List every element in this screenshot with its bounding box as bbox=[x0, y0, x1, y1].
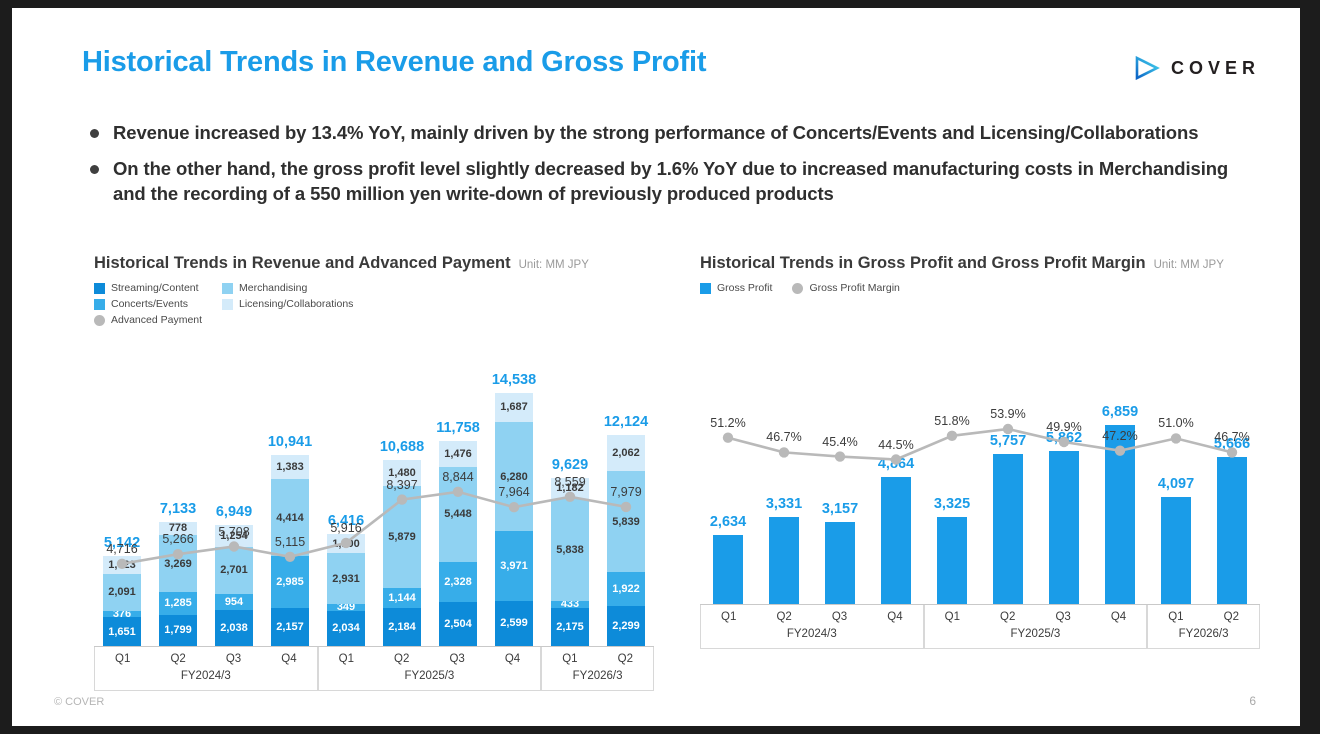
cover-logo: COVER bbox=[1134, 56, 1260, 80]
axis-group: Q1Q2Q3Q4FY2024/3 bbox=[700, 605, 924, 649]
axis-quarter-label: Q2 bbox=[756, 605, 811, 628]
axis-group: Q1Q2FY2026/3 bbox=[1147, 605, 1260, 649]
revenue-legend-item[interactable]: Streaming/Content bbox=[94, 282, 212, 294]
axis-quarter-label: Q1 bbox=[1148, 605, 1203, 628]
line-point-label: 5,708 bbox=[218, 525, 249, 539]
line-point-label: 7,964 bbox=[498, 485, 529, 499]
advanced-payment-labels: 4,7165,2665,7085,1155,9168,3978,8447,964… bbox=[94, 334, 654, 646]
axis-quarter-label: Q1 bbox=[701, 605, 756, 628]
legend-label: Gross Profit bbox=[717, 282, 772, 294]
line-point-label: 46.7% bbox=[766, 430, 801, 444]
line-point-label: 51.2% bbox=[710, 416, 745, 430]
gross-profit-chart-title: Historical Trends in Gross Profit and Gr… bbox=[700, 254, 1146, 273]
axis-quarter-label: Q3 bbox=[429, 647, 484, 670]
legend-label: Streaming/Content bbox=[111, 282, 199, 294]
line-point-label: 44.5% bbox=[878, 438, 913, 452]
revenue-chart-title: Historical Trends in Revenue and Advance… bbox=[94, 254, 511, 273]
axis-fiscal-year-label: FY2025/3 bbox=[319, 670, 541, 687]
axis-quarter-label: Q1 bbox=[319, 647, 374, 670]
axis-quarter-label: Q2 bbox=[374, 647, 429, 670]
gross-profit-chart-header: Historical Trends in Gross Profit and Gr… bbox=[700, 254, 1260, 273]
line-point-label: 51.8% bbox=[934, 414, 969, 428]
legend-swatch-icon bbox=[222, 299, 233, 310]
legend-swatch-icon bbox=[700, 283, 711, 294]
line-point-label: 7,979 bbox=[610, 485, 641, 499]
line-point-label: 8,844 bbox=[442, 470, 473, 484]
axis-quarter-label: Q2 bbox=[980, 605, 1035, 628]
list-item: Revenue increased by 13.4% YoY, mainly d… bbox=[90, 120, 1230, 145]
axis-quarter-label: Q1 bbox=[925, 605, 980, 628]
revenue-chart-panel: Historical Trends in Revenue and Advance… bbox=[94, 254, 654, 691]
revenue-x-axis: Q1Q2Q3Q4FY2024/3Q1Q2Q3Q4FY2025/3Q1Q2FY20… bbox=[94, 646, 654, 691]
line-point-label: 51.0% bbox=[1158, 416, 1193, 430]
line-point-label: 53.9% bbox=[990, 407, 1025, 421]
axis-quarter-label: Q2 bbox=[150, 647, 205, 670]
line-point-label: 47.2% bbox=[1102, 429, 1137, 443]
legend-label: Licensing/Collaborations bbox=[239, 298, 353, 310]
axis-group: Q1Q2Q3Q4FY2025/3 bbox=[924, 605, 1148, 649]
legend-label: Gross Profit Margin bbox=[809, 282, 899, 294]
bullet-dot-icon bbox=[90, 129, 99, 138]
legend-swatch-icon bbox=[94, 299, 105, 310]
gross-profit-chart-legend: Gross ProfitGross Profit Margin bbox=[700, 282, 1260, 294]
axis-quarter-label: Q3 bbox=[1035, 605, 1090, 628]
revenue-chart-unit: Unit: MM JPY bbox=[519, 259, 589, 271]
revenue-chart-legend: Streaming/ContentMerchandisingConcerts/E… bbox=[94, 282, 394, 326]
axis-quarter-label: Q4 bbox=[867, 605, 922, 628]
axis-quarter-label: Q2 bbox=[598, 647, 653, 670]
axis-group: Q1Q2Q3Q4FY2025/3 bbox=[318, 647, 542, 691]
line-point-label: 5,266 bbox=[162, 532, 193, 546]
bullet-text: On the other hand, the gross profit leve… bbox=[113, 156, 1230, 206]
gross-profit-x-axis: Q1Q2Q3Q4FY2024/3Q1Q2Q3Q4FY2025/3Q1Q2FY20… bbox=[700, 604, 1260, 649]
line-point-label: 5,916 bbox=[330, 521, 361, 535]
gross-profit-legend-item[interactable]: Gross Profit bbox=[700, 282, 772, 294]
axis-group: Q1Q2FY2026/3 bbox=[541, 647, 654, 691]
axis-quarter-label: Q3 bbox=[812, 605, 867, 628]
axis-fiscal-year-label: FY2024/3 bbox=[701, 628, 923, 645]
gross-profit-chart-unit: Unit: MM JPY bbox=[1154, 259, 1224, 271]
axis-quarter-label: Q1 bbox=[95, 647, 150, 670]
bullet-text: Revenue increased by 13.4% YoY, mainly d… bbox=[113, 120, 1198, 145]
axis-quarter-label: Q2 bbox=[1204, 605, 1259, 628]
line-point-label: 45.4% bbox=[822, 435, 857, 449]
axis-fiscal-year-label: FY2026/3 bbox=[542, 670, 653, 687]
axis-quarter-label: Q4 bbox=[1091, 605, 1146, 628]
gross-profit-margin-labels: 51.2%46.7%45.4%44.5%51.8%53.9%49.9%47.2%… bbox=[700, 302, 1260, 604]
slide-canvas: Historical Trends in Revenue and Gross P… bbox=[12, 8, 1300, 726]
legend-swatch-icon bbox=[222, 283, 233, 294]
axis-fiscal-year-label: FY2025/3 bbox=[925, 628, 1147, 645]
page-title: Historical Trends in Revenue and Gross P… bbox=[82, 46, 706, 79]
play-triangle-icon bbox=[1134, 56, 1160, 80]
revenue-legend-item[interactable]: Advanced Payment bbox=[94, 314, 212, 326]
revenue-legend-item[interactable]: Concerts/Events bbox=[94, 298, 212, 310]
axis-quarter-label: Q4 bbox=[485, 647, 540, 670]
gross-profit-plot-area: 2,6343,3313,1574,8643,3255,7575,8626,859… bbox=[700, 302, 1260, 604]
legend-label: Advanced Payment bbox=[111, 314, 202, 326]
axis-quarter-label: Q1 bbox=[542, 647, 597, 670]
revenue-legend-item[interactable]: Licensing/Collaborations bbox=[222, 298, 394, 310]
line-point-label: 46.7% bbox=[1214, 430, 1249, 444]
revenue-chart-header: Historical Trends in Revenue and Advance… bbox=[94, 254, 654, 273]
list-item: On the other hand, the gross profit leve… bbox=[90, 156, 1230, 206]
bullet-list: Revenue increased by 13.4% YoY, mainly d… bbox=[90, 120, 1230, 217]
logo-wordmark: COVER bbox=[1171, 58, 1260, 79]
line-point-label: 8,559 bbox=[554, 475, 585, 489]
axis-quarter-label: Q4 bbox=[261, 647, 316, 670]
line-point-label: 4,716 bbox=[106, 542, 137, 556]
axis-fiscal-year-label: FY2026/3 bbox=[1148, 628, 1259, 645]
gross-profit-legend-item[interactable]: Gross Profit Margin bbox=[792, 282, 899, 294]
line-point-label: 8,397 bbox=[386, 478, 417, 492]
legend-swatch-icon bbox=[792, 283, 803, 294]
legend-swatch-icon bbox=[94, 283, 105, 294]
legend-swatch-icon bbox=[94, 315, 105, 326]
axis-fiscal-year-label: FY2024/3 bbox=[95, 670, 317, 687]
page-number: 6 bbox=[1249, 694, 1256, 708]
axis-group: Q1Q2Q3Q4FY2024/3 bbox=[94, 647, 318, 691]
revenue-plot-area: 1,0232,0913761,6515,1427783,2691,2851,79… bbox=[94, 334, 654, 646]
footer-copyright: © COVER bbox=[54, 696, 104, 708]
legend-label: Concerts/Events bbox=[111, 298, 188, 310]
gross-profit-chart-panel: Historical Trends in Gross Profit and Gr… bbox=[700, 254, 1260, 649]
line-point-label: 5,115 bbox=[275, 535, 305, 549]
bullet-dot-icon bbox=[90, 165, 99, 174]
revenue-legend-item[interactable]: Merchandising bbox=[222, 282, 394, 294]
legend-label: Merchandising bbox=[239, 282, 307, 294]
line-point-label: 49.9% bbox=[1046, 420, 1081, 434]
axis-quarter-label: Q3 bbox=[206, 647, 261, 670]
